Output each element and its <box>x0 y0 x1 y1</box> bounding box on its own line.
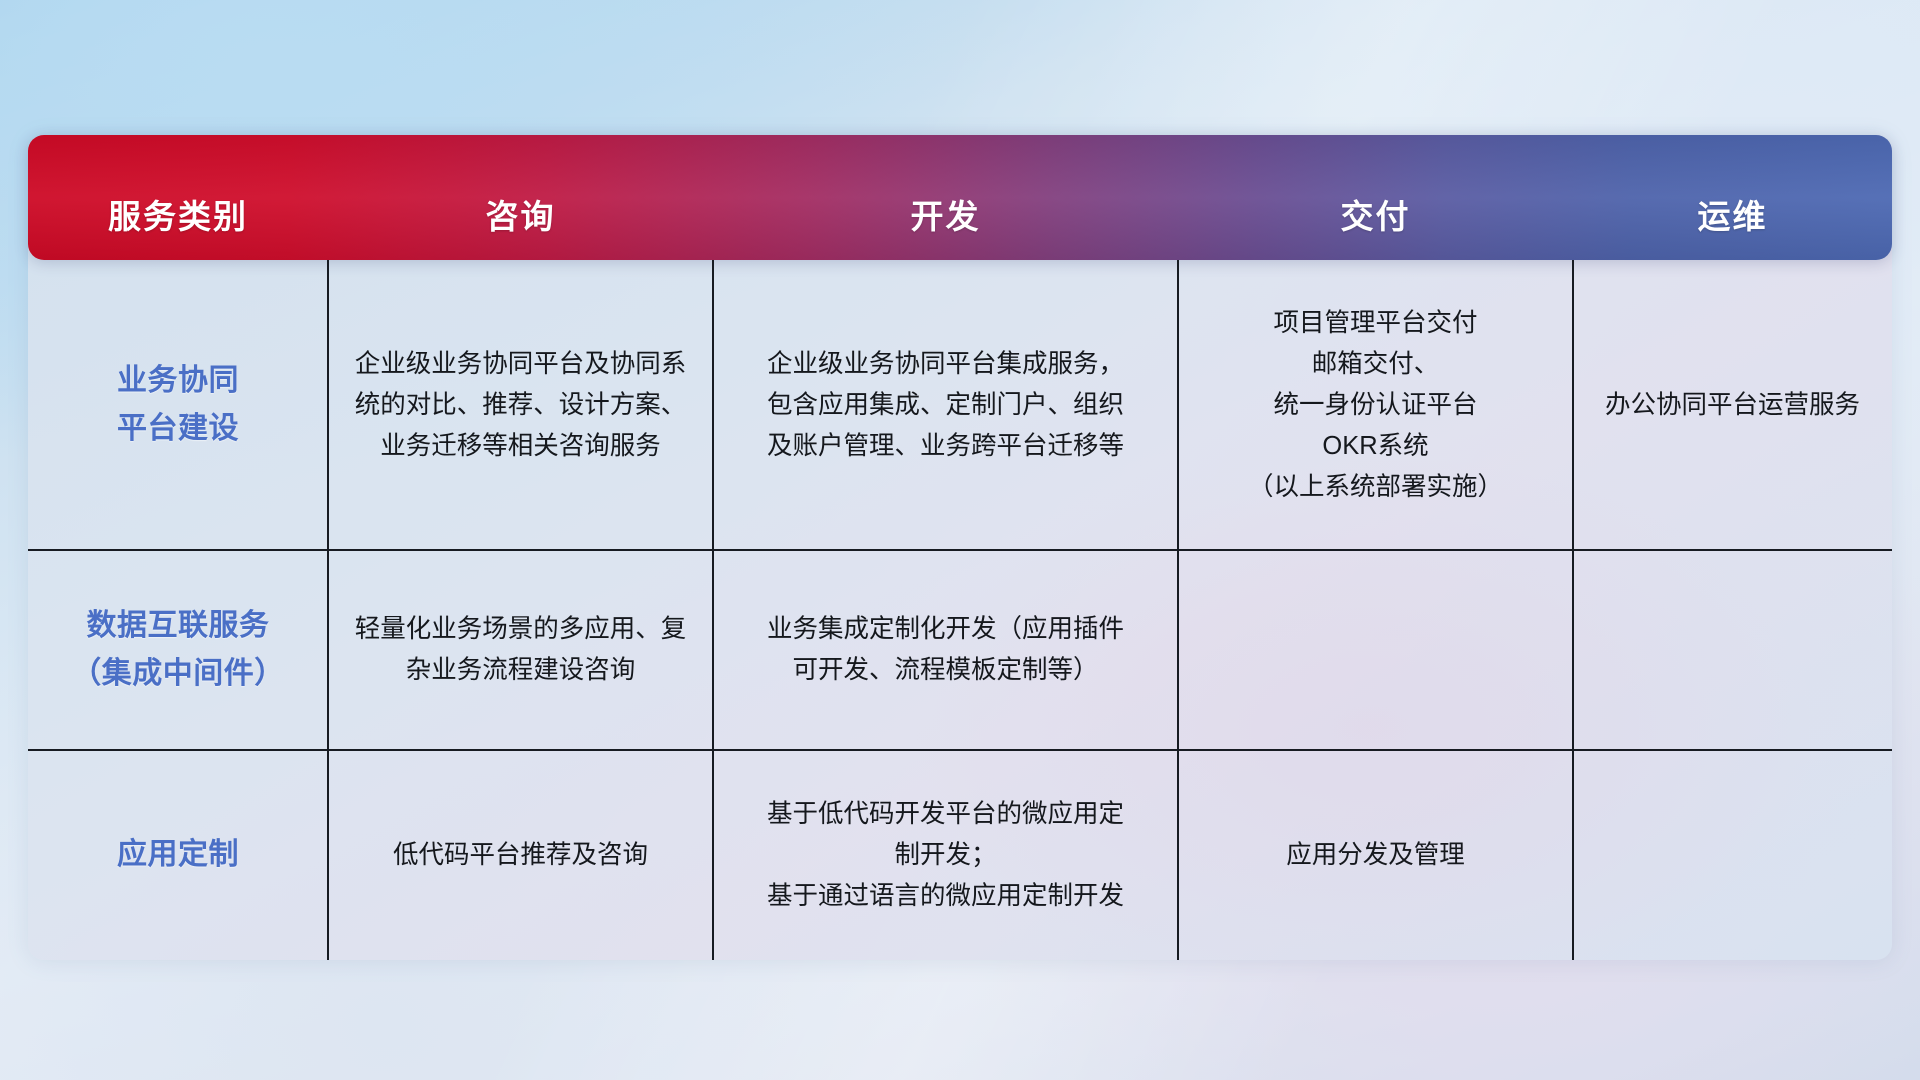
column-header-2: 咨询 <box>328 135 713 260</box>
cell-r2-c3 <box>1178 550 1573 750</box>
cell-r1-c3: 项目管理平台交付 邮箱交付、 统一身份认证平台 OKR系统 （以上系统部署实施） <box>1178 260 1573 550</box>
cell-r2-c4 <box>1573 550 1892 750</box>
cell-r1-c1: 企业级业务协同平台及协同系 统的对比、推荐、设计方案、 业务迁移等相关咨询服务 <box>328 260 713 550</box>
column-header-4: 交付 <box>1178 135 1573 260</box>
cell-r3-c1: 低代码平台推荐及咨询 <box>328 750 713 960</box>
row-label-3: 应用定制 <box>28 750 328 960</box>
table-body: 业务协同 平台建设企业级业务协同平台及协同系 统的对比、推荐、设计方案、 业务迁… <box>28 260 1892 960</box>
column-header-3: 开发 <box>713 135 1178 260</box>
cell-r2-c1: 轻量化业务场景的多应用、复 杂业务流程建设咨询 <box>328 550 713 750</box>
cell-r3-c3: 应用分发及管理 <box>1178 750 1573 960</box>
cell-r1-c2: 企业级业务协同平台集成服务， 包含应用集成、定制门户、组织 及账户管理、业务跨平… <box>713 260 1178 550</box>
cell-r3-c2: 基于低代码开发平台的微应用定 制开发； 基于通过语言的微应用定制开发 <box>713 750 1178 960</box>
cell-r3-c4 <box>1573 750 1892 960</box>
cell-r1-c4: 办公协同平台运营服务 <box>1573 260 1892 550</box>
column-header-5: 运维 <box>1573 135 1892 260</box>
row-label-1: 业务协同 平台建设 <box>28 260 328 550</box>
cell-r2-c2: 业务集成定制化开发（应用插件 可开发、流程模板定制等） <box>713 550 1178 750</box>
row-label-2: 数据互联服务 （集成中间件） <box>28 550 328 750</box>
column-header-1: 服务类别 <box>28 135 328 260</box>
table-header-row: 服务类别咨询开发交付运维 <box>28 135 1892 260</box>
